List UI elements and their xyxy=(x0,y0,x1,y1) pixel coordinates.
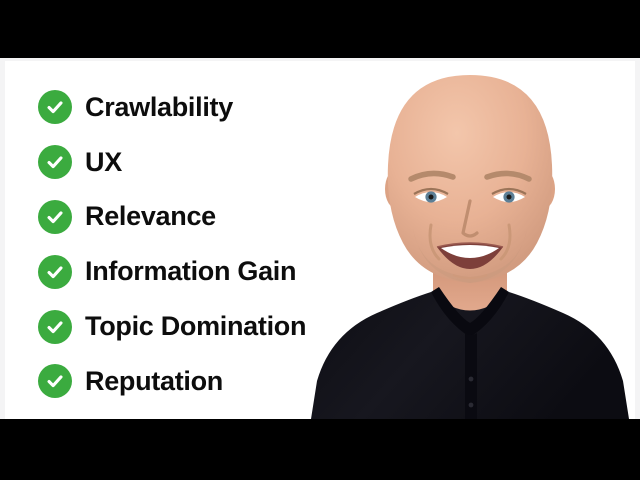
presenter-photo xyxy=(305,61,635,419)
list-item-label: Information Gain xyxy=(85,258,296,285)
list-item: UX xyxy=(38,135,338,190)
list-item: Relevance xyxy=(38,190,338,245)
list-item-label: UX xyxy=(85,149,122,176)
slide-content-area: Crawlability UX xyxy=(0,58,640,419)
seo-checklist: Crawlability UX xyxy=(38,80,338,409)
slide-white-panel: Crawlability UX xyxy=(5,61,635,419)
check-circle-icon xyxy=(38,255,72,289)
list-item-label: Reputation xyxy=(85,368,223,395)
video-frame: Crawlability UX xyxy=(0,0,640,480)
check-circle-icon xyxy=(38,364,72,398)
list-item-label: Crawlability xyxy=(85,94,233,121)
check-circle-icon xyxy=(38,90,72,124)
check-circle-icon xyxy=(38,145,72,179)
list-item: Information Gain xyxy=(38,244,338,299)
check-circle-icon xyxy=(38,200,72,234)
list-item: Crawlability xyxy=(38,80,338,135)
list-item: Topic Domination xyxy=(38,299,338,354)
letterbox-bar-top xyxy=(0,0,640,58)
check-circle-icon xyxy=(38,310,72,344)
letterbox-bar-bottom xyxy=(0,419,640,480)
list-item-label: Topic Domination xyxy=(85,313,306,340)
list-item: Reputation xyxy=(38,354,338,409)
list-item-label: Relevance xyxy=(85,203,216,230)
